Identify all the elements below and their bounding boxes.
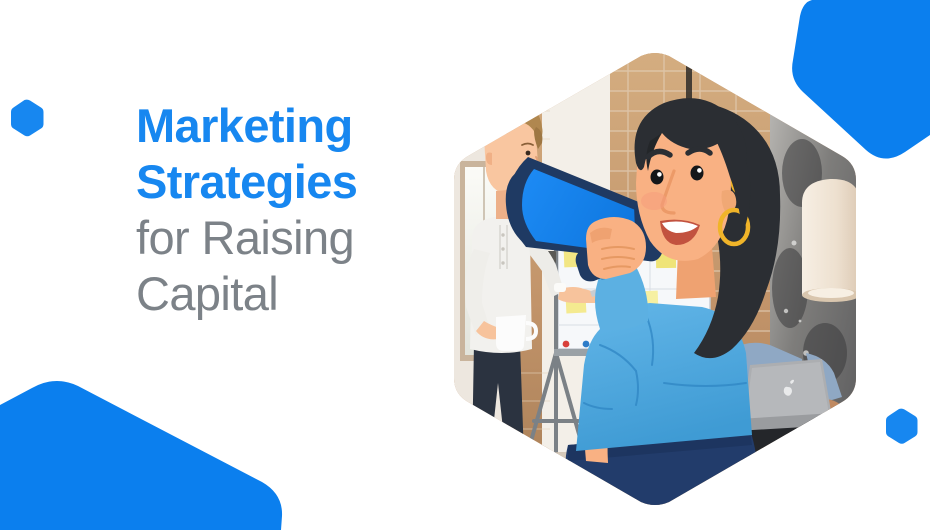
title-line-1: Marketing [136,98,436,154]
bottom-left-blue-blob-icon [0,381,282,530]
woman-blush [641,192,667,210]
slide-canvas: Marketing Strategies for Raising Capital… [0,0,930,530]
hero-hexagon-image: Office scene with exposed brick wall, a … [450,53,860,505]
title-line-2: Strategies [136,154,436,210]
hero-photo-group [450,53,860,505]
laptop-icon [736,359,838,431]
title-line-4: Capital [136,266,436,322]
left-hexagon-icon [11,100,44,137]
page-title: Marketing Strategies for Raising Capital [136,98,436,322]
right-hexagon-icon [886,409,918,444]
title-line-3: for Raising [136,210,436,266]
floor-lamp-icon [802,179,860,302]
